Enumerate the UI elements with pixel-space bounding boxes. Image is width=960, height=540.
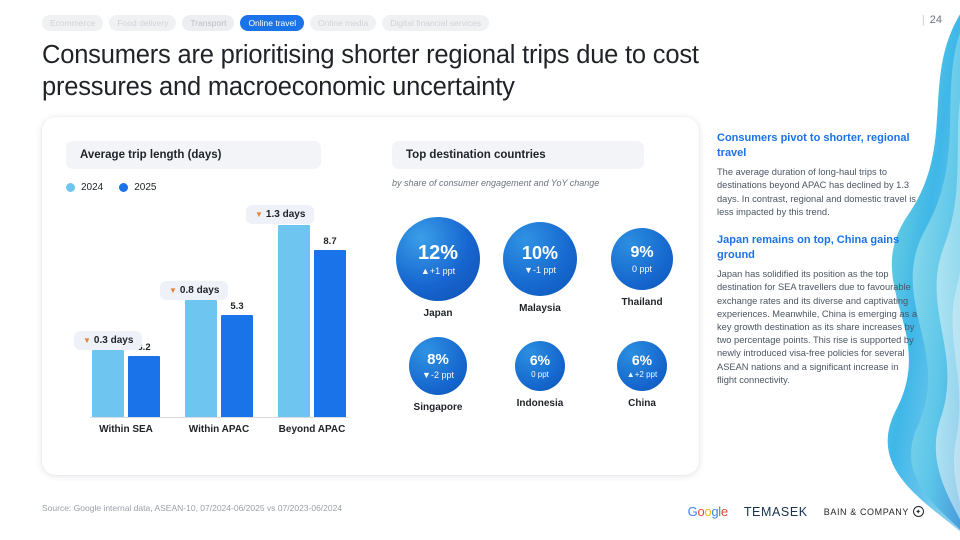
- bar-group-within-apac: 6.1 5.3: [183, 300, 255, 417]
- top-destinations-panel-header: Top destination countries: [392, 141, 644, 169]
- bubble-singapore[interactable]: 8% ▼-2 ppt: [409, 337, 467, 395]
- bubble-ppt-japan: ▲+1 ppt: [421, 266, 455, 276]
- bubble-ppt-thailand: 0 ppt: [632, 264, 652, 274]
- bubble-label-malaysia: Malaysia: [494, 303, 586, 314]
- delta-label-beyond-apac: 1.3 days: [266, 209, 305, 220]
- bubble-label-thailand: Thailand: [596, 297, 688, 308]
- bar-within-sea-2025: 3.2: [128, 356, 160, 417]
- delta-badge-within-sea: ▼0.3 days: [74, 331, 142, 350]
- chart-x-axis: [90, 417, 348, 418]
- logo-row: Google TEMASEK BAIN & COMPANY ✦: [688, 504, 924, 519]
- bar-chart: 3.5 3.2 6.1 5.3 10 8.7: [42, 205, 372, 465]
- bain-mark-icon: ✦: [913, 506, 924, 517]
- tag-food-delivery[interactable]: Food delivery: [109, 15, 176, 31]
- bubble-cell-thailand: 9% 0 ppt Thailand: [596, 217, 688, 319]
- bubble-ppt-indonesia: 0 ppt: [531, 370, 549, 379]
- bar-value-beyond-apac-2025: 8.7: [323, 236, 336, 247]
- bubble-label-china: China: [596, 398, 688, 409]
- side-note-body-2: Japan has solidified its position as the…: [717, 268, 917, 387]
- chart-x-labels: Within SEA Within APAC Beyond APAC: [90, 424, 348, 435]
- tag-online-media[interactable]: Online media: [310, 15, 376, 31]
- legend-label-2025: 2025: [134, 182, 156, 193]
- legend-label-2024: 2024: [81, 182, 103, 193]
- bubble-row-top: 12% ▲+1 ppt Japan 10% ▼-1 ppt Malaysia 9…: [392, 217, 688, 319]
- bubble-label-japan: Japan: [392, 308, 484, 319]
- bubble-pct-thailand: 9%: [630, 245, 653, 261]
- page-number-separator: |: [922, 14, 925, 26]
- tag-transport[interactable]: Transport: [182, 15, 234, 31]
- page-title: Consumers are prioritising shorter regio…: [42, 40, 722, 103]
- delta-label-within-sea: 0.3 days: [94, 335, 133, 346]
- bubble-ppt-singapore: ▼-2 ppt: [422, 370, 454, 380]
- source-note: Source: Google internal data, ASEAN-10, …: [42, 503, 342, 513]
- bain-logo-text: BAIN & COMPANY: [824, 507, 909, 517]
- bar-groups: 3.5 3.2 6.1 5.3 10 8.7: [90, 205, 348, 417]
- tag-digital-financial-services[interactable]: Digital financial services: [382, 15, 489, 31]
- google-logo: Google: [688, 504, 728, 519]
- bar-group-beyond-apac: 10 8.7: [276, 225, 348, 417]
- tag-ecommerce[interactable]: Ecommerce: [42, 15, 103, 31]
- bubble-label-indonesia: Indonesia: [494, 398, 586, 409]
- page-number: |24: [922, 14, 942, 26]
- content-card: Average trip length (days) 2024 2025 3.5…: [42, 117, 699, 475]
- bar-within-sea-2024: 3.5: [92, 350, 124, 417]
- bar-within-apac-2024: 6.1: [185, 300, 217, 417]
- delta-arrow-down-icon: ▼: [255, 210, 263, 219]
- bubble-pct-singapore: 8%: [427, 352, 449, 367]
- bubble-cell-malaysia: 10% ▼-1 ppt Malaysia: [494, 217, 586, 319]
- delta-arrow-down-icon: ▼: [83, 336, 91, 345]
- legend-swatch-2024: [66, 183, 75, 192]
- category-tag-row: Ecommerce Food delivery Transport Online…: [42, 15, 489, 31]
- bar-beyond-apac-2025: 8.7: [314, 250, 346, 417]
- bubble-row-bottom: 8% ▼-2 ppt Singapore 6% 0 ppt Indonesia …: [392, 337, 688, 413]
- delta-badge-beyond-apac: ▼1.3 days: [246, 205, 314, 224]
- avg-trip-length-panel-header: Average trip length (days): [66, 141, 321, 169]
- bubble-cell-indonesia: 6% 0 ppt Indonesia: [494, 337, 586, 413]
- delta-label-within-apac: 0.8 days: [180, 285, 219, 296]
- bubble-ppt-china: ▲+2 ppt: [627, 370, 657, 379]
- bain-logo: BAIN & COMPANY ✦: [824, 506, 924, 517]
- bubble-pct-indonesia: 6%: [530, 353, 550, 367]
- page-number-value: 24: [930, 14, 942, 26]
- side-note-heading-2: Japan remains on top, China gains ground: [717, 233, 917, 262]
- chart-legend: 2024 2025: [66, 182, 321, 193]
- x-label-within-apac: Within APAC: [183, 424, 255, 435]
- bubble-indonesia[interactable]: 6% 0 ppt: [515, 341, 565, 391]
- bubble-cell-china: 6% ▲+2 ppt China: [596, 337, 688, 413]
- bubble-thailand[interactable]: 9% 0 ppt: [611, 228, 673, 290]
- bubble-cell-japan: 12% ▲+1 ppt Japan: [392, 217, 484, 319]
- bubble-chart: 12% ▲+1 ppt Japan 10% ▼-1 ppt Malaysia 9…: [392, 217, 688, 413]
- bubble-japan[interactable]: 12% ▲+1 ppt: [396, 217, 480, 301]
- legend-swatch-2025: [119, 183, 128, 192]
- delta-arrow-down-icon: ▼: [169, 286, 177, 295]
- legend-item-2025: 2025: [119, 182, 156, 193]
- side-note-heading-1: Consumers pivot to shorter, regional tra…: [717, 131, 917, 160]
- temasek-logo: TEMASEK: [744, 505, 808, 519]
- bubble-malaysia[interactable]: 10% ▼-1 ppt: [503, 222, 577, 296]
- bar-beyond-apac-2024: 10: [278, 225, 310, 417]
- bar-group-within-sea: 3.5 3.2: [90, 350, 162, 417]
- tag-online-travel[interactable]: Online travel: [240, 15, 304, 31]
- bubble-pct-japan: 12%: [418, 243, 458, 263]
- bubble-label-singapore: Singapore: [392, 402, 484, 413]
- bar-within-apac-2025: 5.3: [221, 315, 253, 417]
- legend-item-2024: 2024: [66, 182, 103, 193]
- bubble-ppt-malaysia: ▼-1 ppt: [524, 265, 556, 275]
- bubble-pct-malaysia: 10%: [522, 244, 558, 262]
- bar-value-within-apac-2025: 5.3: [230, 301, 243, 312]
- bubble-pct-china: 6%: [632, 353, 652, 367]
- x-label-within-sea: Within SEA: [90, 424, 162, 435]
- x-label-beyond-apac: Beyond APAC: [276, 424, 348, 435]
- delta-badge-within-apac: ▼0.8 days: [160, 281, 228, 300]
- side-notes: Consumers pivot to shorter, regional tra…: [717, 131, 917, 387]
- bubble-china[interactable]: 6% ▲+2 ppt: [617, 341, 667, 391]
- bubble-cell-singapore: 8% ▼-2 ppt Singapore: [392, 337, 484, 413]
- top-destinations-subtitle: by share of consumer engagement and YoY …: [392, 178, 682, 188]
- side-note-body-1: The average duration of long-haul trips …: [717, 166, 917, 219]
